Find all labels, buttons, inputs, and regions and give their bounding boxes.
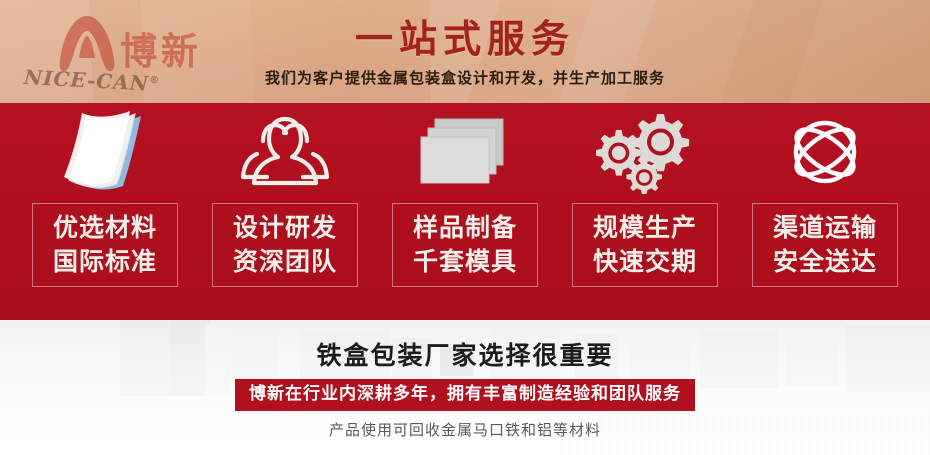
features-row: 优选材料 国际标准 设计研发 资深团队: [0, 103, 930, 320]
feature-icon-wrap: [562, 103, 728, 195]
feature-label-box: 优选材料 国际标准: [32, 203, 178, 287]
feature-line-1: 样品制备: [413, 211, 517, 245]
feature-label-box: 规模生产 快速交期: [572, 203, 718, 287]
bottom-content: 铁盒包装厂家选择很重要 博新在行业内深耕多年，拥有丰富制造经验和团队服务 产品使…: [0, 320, 930, 455]
promo-banner-page: 博新 NICE-CAN® 一站式服务 我们为客户提供金属包装盒设计和开发，并生产…: [0, 0, 930, 455]
feature-line-1: 规模生产: [593, 211, 697, 245]
bottom-ribbon-wrap: 博新在行业内深耕多年，拥有丰富制造经验和团队服务: [0, 379, 930, 411]
feature-card-logistics[interactable]: 渠道运输 安全送达: [742, 103, 908, 320]
page-title: 一站式服务: [0, 18, 930, 60]
stacked-curved-sheets-icon: [49, 110, 161, 194]
feature-line-2: 国际标准: [53, 245, 157, 279]
stacked-plates-icon: [409, 111, 521, 193]
feature-line-2: 快速交期: [593, 245, 697, 279]
gears-icon: [589, 110, 701, 194]
feature-card-production[interactable]: 规模生产 快速交期: [562, 103, 728, 320]
people-group-icon: [233, 111, 337, 193]
bottom-ribbon: 博新在行业内深耕多年，拥有丰富制造经验和团队服务: [235, 379, 695, 411]
feature-icon-wrap: [22, 103, 188, 195]
feature-card-samples[interactable]: 样品制备 千套模具: [382, 103, 548, 320]
feature-line-1: 优选材料: [53, 211, 157, 245]
feature-line-1: 设计研发: [233, 211, 337, 245]
feature-line-2: 安全送达: [773, 245, 877, 279]
feature-line-2: 千套模具: [413, 245, 517, 279]
bottom-band: 铁盒包装厂家选择很重要 博新在行业内深耕多年，拥有丰富制造经验和团队服务 产品使…: [0, 320, 930, 455]
feature-card-design[interactable]: 设计研发 资深团队: [202, 103, 368, 320]
feature-label-box: 渠道运输 安全送达: [752, 203, 898, 287]
page-subtitle: 我们为客户提供金属包装盒设计和开发，并生产加工服务: [0, 68, 930, 88]
feature-icon-wrap: [382, 103, 548, 195]
globe-orbit-icon: [777, 110, 873, 194]
header-band: 博新 NICE-CAN® 一站式服务 我们为客户提供金属包装盒设计和开发，并生产…: [0, 0, 930, 103]
feature-icon-wrap: [202, 103, 368, 195]
features-band: 优选材料 国际标准 设计研发 资深团队: [0, 103, 930, 320]
feature-label-box: 样品制备 千套模具: [392, 203, 538, 287]
feature-label-box: 设计研发 资深团队: [212, 203, 358, 287]
bottom-title: 铁盒包装厂家选择很重要: [0, 341, 930, 371]
feature-icon-wrap: [742, 103, 908, 195]
bottom-note: 产品使用可回收金属马口铁和铝等材料: [0, 420, 930, 440]
feature-card-materials[interactable]: 优选材料 国际标准: [22, 103, 188, 320]
feature-line-2: 资深团队: [233, 245, 337, 279]
feature-line-1: 渠道运输: [773, 211, 877, 245]
